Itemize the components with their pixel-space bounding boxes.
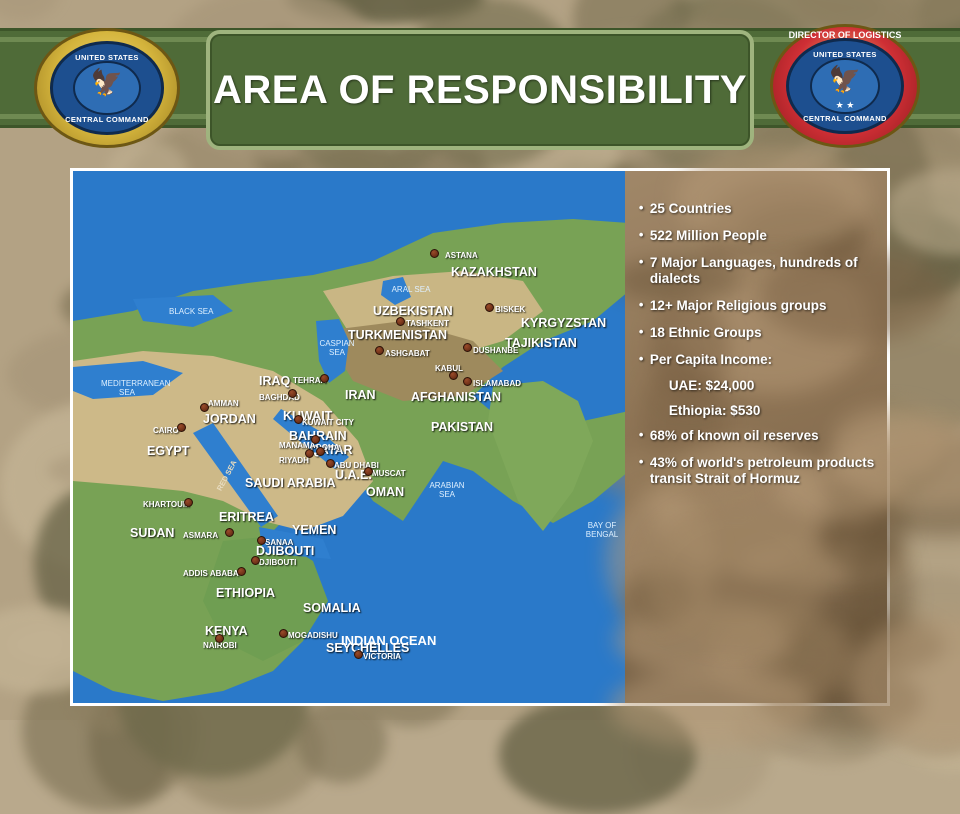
map-city-label: CAIRO	[153, 426, 179, 435]
map-capital-marker-icon	[320, 374, 329, 383]
map-country-label: ETHIOPIA	[216, 586, 275, 600]
director-of-logistics-title: DIRECTOR OF LOGISTICS	[782, 30, 908, 40]
map-city-label: ADDIS ABABA	[183, 569, 239, 578]
map-city-label: VICTORIA	[363, 652, 401, 661]
map-capital-marker-icon	[463, 343, 472, 352]
fact-item: 522 Million People	[639, 228, 877, 244]
facts-list: 25 Countries522 Million People7 Major La…	[639, 201, 877, 487]
map-city-label: AMMAN	[208, 399, 239, 408]
fact-item: Per Capita Income:	[639, 352, 877, 368]
fact-item: UAE: $24,000	[639, 378, 877, 394]
map-water-label: BLACK SEA	[169, 307, 213, 316]
map-country-label: SOMALIA	[303, 601, 361, 615]
map-city-label: MOGADISHU	[288, 631, 338, 640]
map-country-label: KYRGYZSTAN	[521, 316, 606, 330]
map-capital-marker-icon	[215, 634, 224, 643]
desert-blob	[610, 667, 816, 747]
content-panel: KAZAKHSTANUZBEKISTANKYRGYZSTANTURKMENIST…	[70, 168, 890, 706]
map-city-label: KHARTOUM	[143, 500, 190, 509]
map-water-label: ARABIAN SEA	[421, 481, 473, 499]
seal-inner-ring: UNITED STATES 🦅 ★ ★ CENTRAL COMMAND	[786, 38, 904, 135]
map-city-label: DJIBOUTI	[259, 558, 296, 567]
map-country-label: EGYPT	[147, 444, 189, 458]
map-city-label: MUSCAT	[372, 469, 406, 478]
map-water-label: INDIAN OCEAN	[341, 633, 436, 648]
page-title: AREA OF RESPONSIBILITY	[213, 69, 747, 111]
map-country-label: ERITREA	[219, 510, 274, 524]
map-country-label: JORDAN	[203, 412, 256, 426]
map-country-label: IRAQ	[259, 374, 290, 388]
fact-item: 7 Major Languages, hundreds of dialects	[639, 255, 877, 287]
map-capital-marker-icon	[251, 556, 260, 565]
map-water-label: BAY OF BENGAL	[585, 521, 619, 539]
map-country-label: SAUDI ARABIA	[245, 476, 336, 490]
fact-item: 12+ Major Religious groups	[639, 298, 877, 314]
map-city-label: ASTANA	[445, 251, 478, 260]
map-city-label: DUSHANBE	[473, 346, 518, 355]
eagle-icon: 🦅	[819, 66, 871, 104]
map-capital-marker-icon	[294, 415, 303, 424]
title-box: AREA OF RESPONSIBILITY	[206, 30, 754, 150]
map-country-label: SUDAN	[130, 526, 174, 540]
map-country-label: KENYA	[205, 624, 248, 638]
map-capital-marker-icon	[326, 459, 335, 468]
map-capital-marker-icon	[354, 650, 363, 659]
map-city-label: RIYADH	[279, 456, 309, 465]
map-capital-marker-icon	[225, 528, 234, 537]
seal-inner-ring: UNITED STATES 🦅 CENTRAL COMMAND	[50, 41, 165, 134]
map-country-label: AFGHANISTAN	[411, 390, 501, 404]
map-water-label: ARAL SEA	[385, 285, 437, 294]
map-city-label: ASMARA	[183, 531, 218, 540]
map-capital-marker-icon	[305, 449, 314, 458]
seal-outer-ring: UNITED STATES 🦅 ★ ★ CENTRAL COMMAND	[770, 24, 920, 148]
map-capital-marker-icon	[316, 447, 325, 456]
map-country-label: PAKISTAN	[431, 420, 493, 434]
map-capital-marker-icon	[200, 403, 209, 412]
map-capital-marker-icon	[463, 377, 472, 386]
desert-blob	[644, 503, 828, 648]
map-city-label: BISKEK	[495, 305, 525, 314]
map-capital-marker-icon	[279, 629, 288, 638]
map-capital-marker-icon	[237, 567, 246, 576]
map-capital-marker-icon	[430, 249, 439, 258]
facts-area: 25 Countries522 Million People7 Major La…	[625, 171, 887, 703]
eagle-icon: 🦅	[82, 69, 132, 106]
uscentcom-seal: UNITED STATES 🦅 CENTRAL COMMAND	[34, 28, 180, 148]
map-country-label: KAZAKHSTAN	[451, 265, 537, 279]
map-country-label: UZBEKISTAN	[373, 304, 453, 318]
map-city-label: TASHKENT	[406, 319, 449, 328]
fact-item: 25 Countries	[639, 201, 877, 217]
stars-icon: ★ ★	[789, 100, 901, 111]
map-capital-marker-icon	[184, 498, 193, 507]
fact-item: 18 Ethnic Groups	[639, 325, 877, 341]
map-capital-marker-icon	[364, 467, 373, 476]
map-area: KAZAKHSTANUZBEKISTANKYRGYZSTANTURKMENIST…	[73, 171, 625, 703]
camo-blob	[296, 698, 388, 783]
map-city-label: KUWAIT CITY	[302, 418, 354, 427]
map-capital-marker-icon	[449, 371, 458, 380]
map-country-label: OMAN	[366, 485, 404, 499]
map-capital-marker-icon	[311, 435, 320, 444]
map-city-label: KABUL	[435, 364, 463, 373]
seal-bottom-text: CENTRAL COMMAND	[53, 115, 162, 124]
seal-outer-ring: UNITED STATES 🦅 CENTRAL COMMAND	[34, 28, 180, 148]
fact-item: Ethiopia: $530	[639, 403, 877, 419]
map-city-label: SANAA	[265, 538, 293, 547]
map-water-label: CASPIAN SEA	[311, 339, 363, 357]
map-capital-marker-icon	[257, 536, 266, 545]
map-capital-marker-icon	[396, 317, 405, 326]
map-capital-marker-icon	[485, 303, 494, 312]
map-capital-marker-icon	[375, 346, 384, 355]
map-city-label: ASHGABAT	[385, 349, 430, 358]
map-country-label: IRAN	[345, 388, 376, 402]
map-water-label: MEDITERRANEAN SEA	[101, 379, 153, 397]
map-capital-marker-icon	[288, 389, 297, 398]
map-city-label: ISLAMABAD	[473, 379, 521, 388]
map-country-label: YEMEN	[292, 523, 336, 537]
map-landmass-layer	[73, 171, 625, 703]
seal-bottom-text: CENTRAL COMMAND	[789, 114, 901, 123]
map-capital-marker-icon	[177, 423, 186, 432]
director-of-logistics-seal: UNITED STATES 🦅 ★ ★ CENTRAL COMMAND	[770, 24, 920, 148]
fact-item: 43% of world's petroleum products transi…	[639, 455, 877, 487]
fact-item: 68% of known oil reserves	[639, 428, 877, 444]
